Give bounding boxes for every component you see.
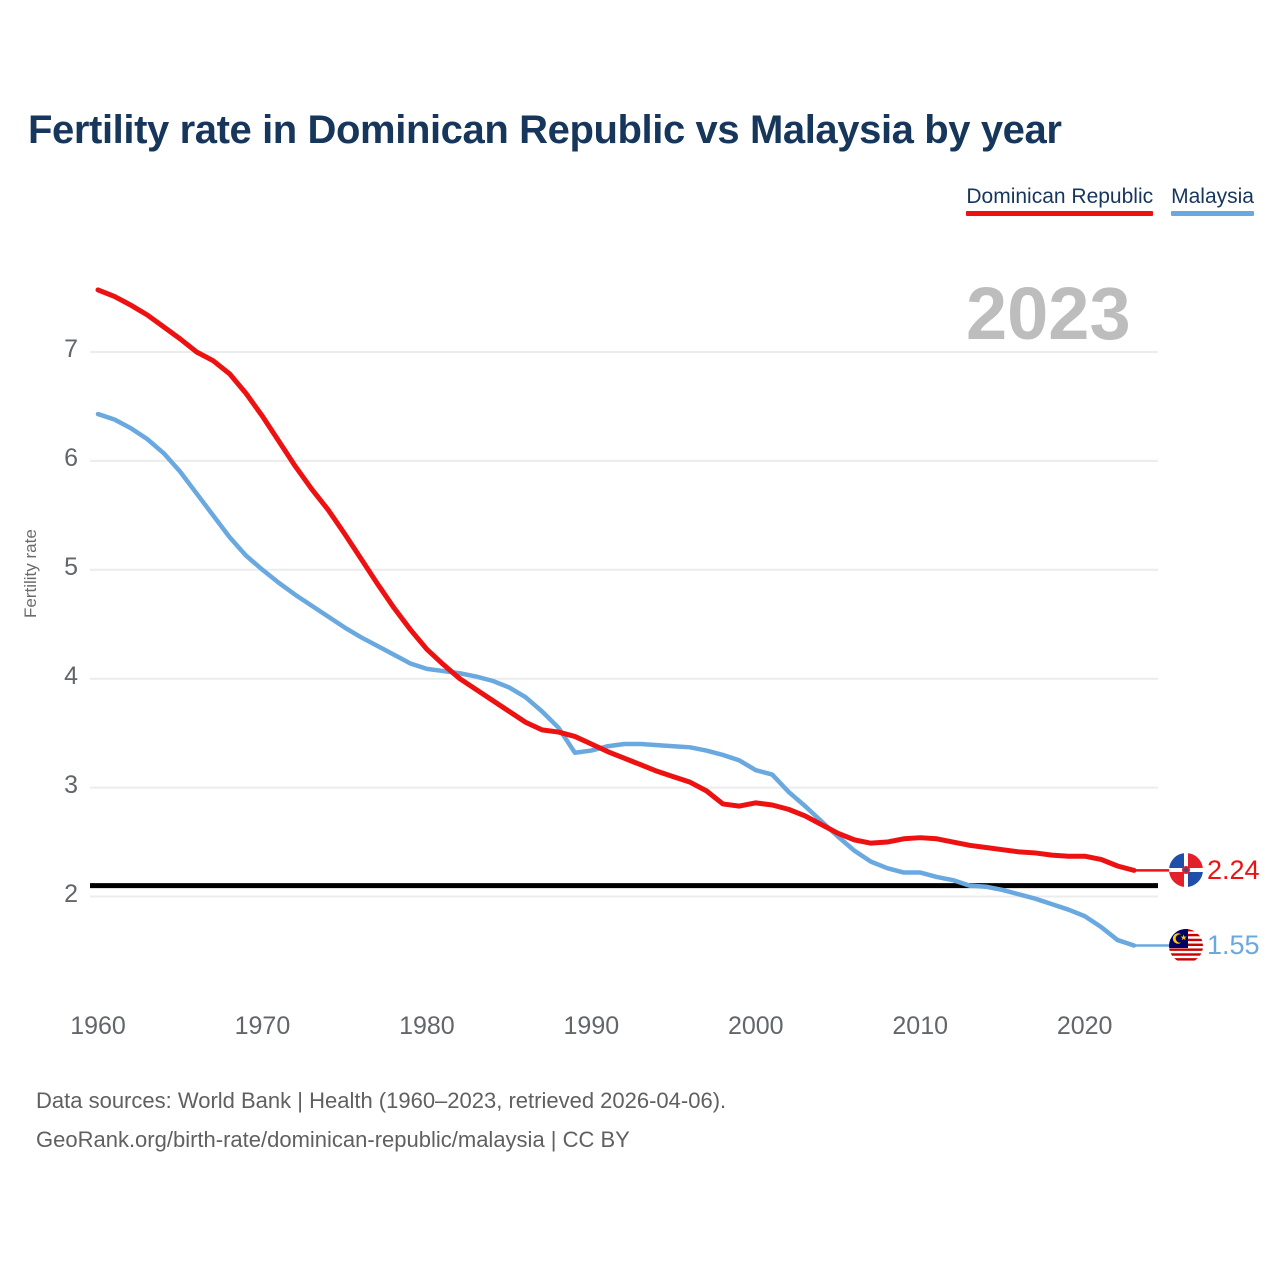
x-tick-1980: 1980 <box>382 1012 472 1041</box>
malaysia-flag-icon <box>1169 929 1203 963</box>
end-marker-malaysia[interactable]: 1.55 <box>1169 929 1260 963</box>
y-tick-4: 4 <box>48 662 78 691</box>
x-tick-2000: 2000 <box>711 1012 801 1041</box>
footer-sources: Data sources: World Bank | Health (1960–… <box>36 1082 726 1159</box>
x-tick-1960: 1960 <box>53 1012 143 1041</box>
footer-line-2: GeoRank.org/birth-rate/dominican-republi… <box>36 1121 726 1160</box>
gridlines <box>90 352 1158 897</box>
end-value-dominican-republic: 2.24 <box>1207 857 1260 884</box>
dominican-republic-flag-icon <box>1169 853 1203 887</box>
x-tick-2010: 2010 <box>875 1012 965 1041</box>
x-tick-2020: 2020 <box>1040 1012 1130 1041</box>
end-marker-dominican-republic[interactable]: 2.24 <box>1169 853 1260 887</box>
series-line-malaysia <box>98 414 1134 945</box>
series-line-dominican-republic <box>98 290 1134 870</box>
end-value-malaysia: 1.55 <box>1207 932 1260 959</box>
y-tick-5: 5 <box>48 553 78 582</box>
y-tick-3: 3 <box>48 771 78 800</box>
y-tick-7: 7 <box>48 335 78 364</box>
x-tick-1970: 1970 <box>217 1012 307 1041</box>
y-tick-6: 6 <box>48 444 78 473</box>
y-tick-2: 2 <box>48 880 78 909</box>
x-tick-1990: 1990 <box>546 1012 636 1041</box>
footer-line-1: Data sources: World Bank | Health (1960–… <box>36 1082 726 1121</box>
